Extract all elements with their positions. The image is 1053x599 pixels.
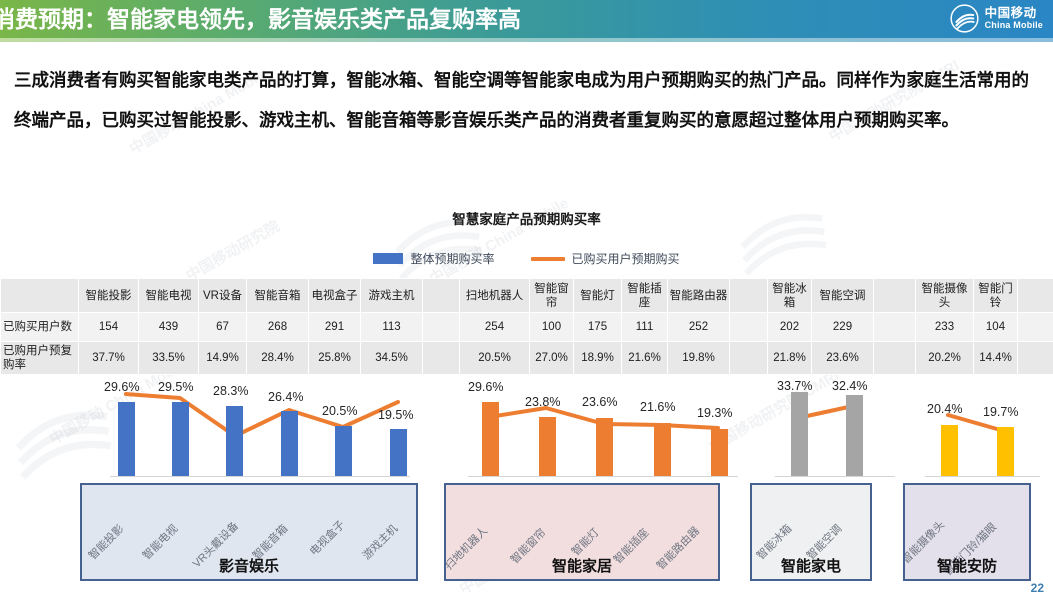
table-group-spacer [423, 313, 460, 342]
legend-label: 已购买用户预期购买 [572, 250, 680, 267]
category-name: 智能安防 [905, 555, 1029, 576]
body-paragraph: 三成消费者有购买智能家电类产品的打算，智能冰箱、智能空调等智能家电成为用户预期购… [14, 60, 1044, 140]
data-label: 28.3% [213, 384, 248, 398]
slide-header-bar: 消费预期：智能家电领先，影音娱乐类产品复购率高 中国移动 China Mobil… [0, 0, 1053, 38]
body-paragraph-text: 三成消费者有购买智能家电类产品的打算，智能冰箱、智能空调等智能家电成为用户预期购… [14, 60, 1044, 140]
data-label: 32.4% [832, 379, 867, 393]
table-col-header: 智能窗帘 [530, 279, 574, 313]
page-title: 消费预期：智能家电领先，影音娱乐类产品复购率高 [0, 1, 521, 37]
table-group-spacer [874, 279, 916, 313]
category-box-home[interactable]: 扫地机器人 智能窗帘 智能灯 智能插座 智能路由器 智能家居 [444, 483, 720, 581]
table-col-header: 电视盒子 [309, 279, 361, 313]
table-cell: 23.6% [812, 342, 874, 375]
category-box-av[interactable]: 智能投影 智能电视 VR头戴设备 智能音箱 电视盒子 游戏主机 影音娱乐 [80, 483, 418, 581]
data-label: 33.7% [777, 379, 812, 393]
table-col-header: 智能投影 [79, 279, 139, 313]
data-label: 26.4% [268, 390, 303, 404]
table-group-spacer [423, 279, 460, 313]
table-group-spacer [1018, 342, 1053, 375]
category-name: 智能家居 [446, 555, 718, 576]
table-cell: 439 [139, 313, 199, 342]
category-item-label: 智能灯 [568, 524, 603, 559]
legend-swatch-line-icon [531, 257, 565, 261]
table-row: 已购用户预复购率 37.7% 33.5% 14.9% 28.4% 25.8% 3… [1, 342, 1053, 375]
table-row: 已购买用户数 154 439 67 268 291 113 254 100 17… [1, 313, 1053, 342]
chart-legend: 整体预期购买率 已购买用户预期购买 [0, 250, 1053, 267]
table-cell: 291 [309, 313, 361, 342]
table-cell: 18.9% [574, 342, 622, 375]
legend-item-overall: 整体预期购买率 [373, 250, 494, 267]
logo-name-en: China Mobile [985, 21, 1043, 30]
table-col-header: 智能灯 [574, 279, 622, 313]
table-row-label: 已购用户预复购率 [1, 342, 79, 375]
header-divider [0, 38, 1053, 42]
table-col-header: 智能摄像头 [916, 279, 974, 313]
table-col-header: 智能冰箱 [768, 279, 812, 313]
table-cell: 25.8% [309, 342, 361, 375]
table-header-row: 智能投影 智能电视 VR设备 智能音箱 电视盒子 游戏主机 扫地机器人 智能窗帘… [1, 279, 1053, 313]
table-cell: 14.9% [199, 342, 247, 375]
legend-item-purchased: 已购买用户预期购买 [531, 250, 680, 267]
table-cell: 254 [460, 313, 530, 342]
slide-canvas: 中国移动 China Mobile 中国移动研究院 CMRI 中国移动 Chin… [0, 0, 1053, 599]
table-cell: 100 [530, 313, 574, 342]
table-col-header: 智能空调 [812, 279, 874, 313]
data-label: 29.6% [468, 380, 503, 394]
watermark-ring-icon [735, 190, 830, 285]
logo-name-cn: 中国移动 [985, 7, 1043, 20]
data-label: 20.5% [322, 404, 357, 418]
bar [390, 429, 407, 476]
table-cell: 33.5% [139, 342, 199, 375]
table-group-spacer [1018, 279, 1053, 313]
legend-label: 整体预期购买率 [410, 250, 494, 267]
table-group-spacer [730, 313, 768, 342]
table-cell: 252 [668, 313, 730, 342]
table-group-spacer [730, 342, 768, 375]
table-col-header: 智能音箱 [247, 279, 309, 313]
category-name: 影音娱乐 [82, 555, 416, 576]
bar [596, 418, 613, 476]
bar [791, 392, 808, 476]
table-group-spacer [874, 313, 916, 342]
table-row-label: 已购买用户数 [1, 313, 79, 342]
category-name: 智能家电 [752, 555, 870, 576]
table-cell: 27.0% [530, 342, 574, 375]
data-label: 19.7% [983, 405, 1018, 419]
table-cell: 20.5% [460, 342, 530, 375]
legend-swatch-bar-icon [373, 253, 403, 264]
bar [941, 425, 958, 476]
table-cell: 21.6% [622, 342, 668, 375]
bar [335, 426, 352, 476]
bar [172, 402, 189, 476]
category-box-security[interactable]: 智能摄像头 智能门铃/猫眼 智能安防 [903, 483, 1031, 581]
table-col-header: 游戏主机 [361, 279, 423, 313]
table-cell: 104 [974, 313, 1018, 342]
data-label: 29.5% [158, 380, 193, 394]
table-cell: 229 [812, 313, 874, 342]
table-col-header: 智能插座 [622, 279, 668, 313]
bar [281, 411, 298, 476]
table-col-header: 智能门铃 [974, 279, 1018, 313]
table-group-spacer [423, 342, 460, 375]
data-label: 21.6% [640, 400, 675, 414]
bar [539, 417, 556, 476]
table-col-header: 扫地机器人 [460, 279, 530, 313]
table-cell: 67 [199, 313, 247, 342]
table-cell: 34.5% [361, 342, 423, 375]
table-cell: 202 [768, 313, 812, 342]
data-label: 20.4% [927, 402, 962, 416]
table-cell: 113 [361, 313, 423, 342]
table-cell: 19.8% [668, 342, 730, 375]
data-table-zone: 智能投影 智能电视 VR设备 智能音箱 电视盒子 游戏主机 扫地机器人 智能窗帘… [0, 278, 1053, 373]
table-group-spacer [874, 342, 916, 375]
data-label: 29.6% [104, 380, 139, 394]
table-col-header: 智能路由器 [668, 279, 730, 313]
china-mobile-logo: 中国移动 China Mobile [950, 4, 1043, 33]
bar [118, 402, 135, 476]
chart-plot-area: 29.6% 29.5% 28.3% 26.4% 20.5% 19.5% 29.6… [0, 374, 1053, 482]
bar [654, 423, 671, 476]
china-mobile-emblem-icon [950, 4, 979, 33]
data-label: 19.5% [378, 408, 413, 422]
data-label: 19.3% [697, 406, 732, 420]
table-cell: 233 [916, 313, 974, 342]
data-table: 智能投影 智能电视 VR设备 智能音箱 电视盒子 游戏主机 扫地机器人 智能窗帘… [0, 278, 1053, 375]
chart-title: 智慧家庭产品预期购买率 [0, 208, 1053, 228]
bar [846, 395, 863, 476]
table-cell: 268 [247, 313, 309, 342]
table-cell: 37.7% [79, 342, 139, 375]
logo-text-block: 中国移动 China Mobile [985, 7, 1043, 31]
table-cell: 154 [79, 313, 139, 342]
page-number: 22 [1031, 581, 1044, 595]
bar [711, 429, 728, 476]
bar [226, 406, 243, 476]
table-cell: 21.8% [768, 342, 812, 375]
table-corner-cell [1, 279, 79, 313]
table-group-spacer [1018, 313, 1053, 342]
category-item-label: 电视盒子 [306, 517, 348, 559]
table-group-spacer [730, 279, 768, 313]
table-col-header: 智能电视 [139, 279, 199, 313]
table-cell: 14.4% [974, 342, 1018, 375]
data-label: 23.6% [582, 395, 617, 409]
table-cell: 111 [622, 313, 668, 342]
bar [482, 402, 499, 476]
table-cell: 175 [574, 313, 622, 342]
table-cell: 28.4% [247, 342, 309, 375]
bar [997, 427, 1014, 476]
category-box-appliance[interactable]: 智能冰箱 智能空调 智能家电 [750, 483, 872, 581]
table-col-header: VR设备 [199, 279, 247, 313]
table-cell: 20.2% [916, 342, 974, 375]
watermark-text: 中国移动 China Mobile [425, 192, 572, 289]
data-label: 23.8% [525, 395, 560, 409]
